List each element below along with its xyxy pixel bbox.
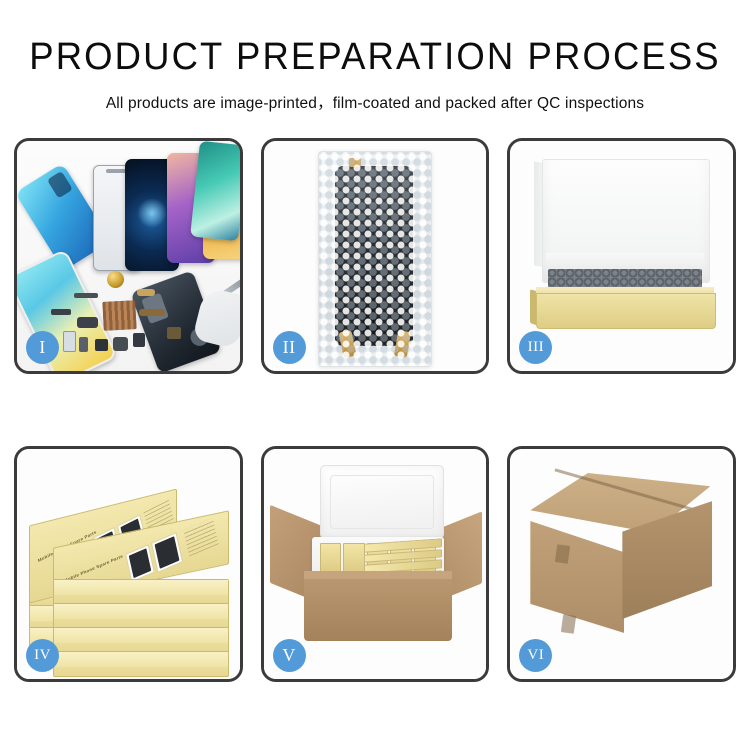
- process-step-5: V: [261, 446, 490, 682]
- box-top-face: [54, 604, 228, 619]
- stacked-box: [53, 579, 229, 605]
- process-step-4: Mobile Phone Spare Parts Mobile Phone Sp…: [14, 446, 243, 682]
- header: PRODUCT PREPARATION PROCESS All products…: [0, 0, 750, 113]
- spare-part: [133, 333, 145, 347]
- box-top-face: [54, 580, 228, 595]
- spare-part: [74, 293, 98, 298]
- spare-part: [63, 331, 76, 352]
- process-step-3: III: [507, 138, 736, 374]
- process-step-2: II: [261, 138, 490, 374]
- spare-part: [77, 317, 98, 328]
- spare-part: [79, 337, 88, 352]
- process-step-6: VI: [507, 446, 736, 682]
- chip-array-part: [102, 300, 136, 331]
- box-top-face: [54, 628, 228, 643]
- box-top-face: [54, 652, 228, 667]
- spare-part: [137, 289, 155, 296]
- spare-part: [139, 309, 165, 316]
- bubble-wrap-bag-image: [318, 151, 432, 367]
- process-step-grid: I II: [14, 138, 736, 682]
- box-label-swatch: [125, 544, 155, 582]
- step-badge-5: V: [273, 639, 306, 672]
- stacked-box: [53, 603, 229, 629]
- vibration-motor-part: [107, 271, 124, 288]
- carton-body: [304, 579, 452, 641]
- step-badge-1: I: [26, 331, 59, 364]
- box-stack: Mobile Phone Spare Parts Mobile Phone Sp…: [25, 471, 239, 667]
- carton-tape-patch: [561, 614, 576, 634]
- step-badge-4: IV: [26, 639, 59, 672]
- page-title: PRODUCT PREPARATION PROCESS: [15, 38, 735, 76]
- phone-display-teal-image: [190, 141, 240, 241]
- yellow-box-front: [536, 293, 716, 329]
- process-step-1: I: [14, 138, 243, 374]
- carton-left-face: [530, 521, 624, 633]
- bubble-shadow-overlay: [319, 152, 431, 366]
- spare-part: [167, 327, 181, 339]
- spare-part: [51, 309, 71, 315]
- spare-part: [113, 337, 128, 351]
- foam-cooler-lid: [320, 465, 444, 539]
- stacked-box: [53, 627, 229, 653]
- stacked-box: [53, 651, 229, 677]
- page-subtitle: All products are image-printed，film-coat…: [0, 91, 750, 113]
- product-preparation-infographic: PRODUCT PREPARATION PROCESS All products…: [0, 0, 750, 750]
- step-badge-2: II: [273, 331, 306, 364]
- box-label-swatch: [151, 532, 183, 573]
- box-label-spec-lines: [183, 518, 218, 557]
- spare-part: [95, 339, 108, 351]
